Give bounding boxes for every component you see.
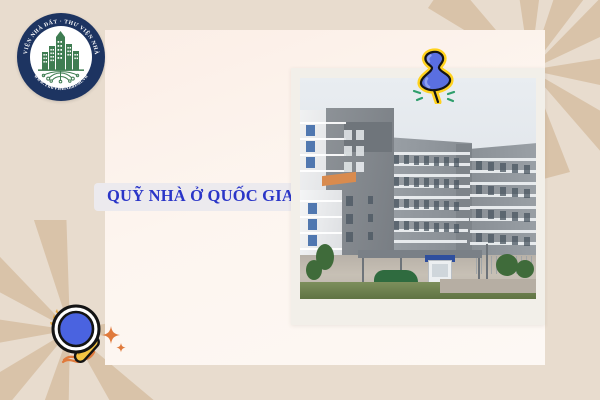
photo-blue-window [308,203,317,214]
photo-window [512,212,518,221]
photo-window [368,214,373,222]
photo-window [404,221,409,230]
photo-window [454,180,459,189]
photo-window [444,223,449,232]
photo-window [488,162,494,171]
photo-balcony-line [300,138,346,140]
photo-pole [486,244,488,284]
photo-window [500,163,506,172]
page-title: QUỸ NHÀ Ở QUỐC GIA [107,188,294,205]
photo-window [476,233,482,242]
photo-window [344,162,352,172]
photo-window [368,196,373,204]
photo-window [454,158,459,167]
photo-window [454,224,459,233]
poster-canvas: THƯ VIỆN NHÀ ĐẤT · THƯ VIỆN NHÀ ĐẤT www.… [0,0,600,400]
photo-blue-window [308,219,317,230]
photo-window [500,235,506,244]
photo-window [488,186,494,195]
photo-tree [516,260,534,278]
photo-window [394,155,399,164]
photo-blue-window [306,157,315,168]
photo-window [454,202,459,211]
photo-balcony-line [300,200,342,202]
photo-tree [496,254,518,276]
photo-window [524,165,530,174]
photo-window [512,188,518,197]
photo-window [444,179,449,188]
photo-window [434,157,439,166]
photo-window [524,213,530,222]
photo-window [394,199,399,208]
photo-window [404,155,409,164]
photo-blue-window [308,235,317,246]
photo-window [424,222,429,231]
photo-balcony-line [300,232,342,234]
photo-window [476,161,482,170]
magnifier-star-icon [102,326,126,352]
photo-blue-window [306,125,315,136]
photo-window [434,223,439,232]
photo-window [476,185,482,194]
photo-balcony-line [300,170,344,172]
photo-window [414,178,419,187]
photo-window [414,200,419,209]
page-title-badge: QUỸ NHÀ Ở QUỐC GIA [94,183,307,211]
photo-window [512,164,518,173]
photo-bare-ground [440,279,536,293]
logo-ring-text-bottom: www.ThuVienNhaDat.vn [32,74,89,92]
photo-window [488,234,494,243]
photo-window [434,179,439,188]
photo-tree [306,260,322,280]
photo-window-band [388,152,470,155]
photo-window [344,146,352,156]
photo-window [394,221,399,230]
pushpin-icon [408,44,464,104]
photo-window [424,178,429,187]
photo-window [346,232,353,242]
photo-window [356,130,364,140]
photo-window [346,214,353,224]
photo-window-band [388,174,470,177]
magnifying-glass-icon [42,296,126,374]
photo-window [404,199,409,208]
photo-window [500,187,506,196]
photo-window-band [391,240,467,243]
logo-ring-text-top: THƯ VIỆN NHÀ ĐẤT · THƯ VIỆN NHÀ ĐẤT [17,13,101,57]
photo-window [524,237,530,246]
photo-window [344,130,352,140]
apartment-complex-photo [300,78,536,299]
photo-window [394,177,399,186]
photo-balcony-line [300,216,342,218]
photo-window [434,201,439,210]
photo-balcony-line [300,154,346,156]
photo-window-band [388,196,470,199]
photo-window [444,157,449,166]
photo-frame [291,68,545,325]
magnifier-lens [59,312,93,346]
photo-window [368,232,373,240]
photo-canopy [358,250,482,258]
photo-blue-window [306,141,315,152]
photo-window [356,162,364,172]
photo-guard-booth-window [432,264,448,277]
photo-window [356,146,364,156]
photo-window [404,177,409,186]
photo-window [424,200,429,209]
photo-window [346,196,353,206]
photo-window [512,236,518,245]
photo-window [414,222,419,231]
photo-window [476,209,482,218]
site-logo[interactable]: THƯ VIỆN NHÀ ĐẤT · THƯ VIỆN NHÀ ĐẤT www.… [17,13,105,101]
logo-ring-text: THƯ VIỆN NHÀ ĐẤT · THƯ VIỆN NHÀ ĐẤT www.… [17,13,105,101]
photo-window [524,189,530,198]
photo-window [488,210,494,219]
photo-canopy-leg [362,258,364,282]
photo-balcony-line [300,122,346,124]
photo-window [444,201,449,210]
photo-window-band [389,218,469,221]
photo-window [424,156,429,165]
photo-window [414,156,419,165]
photo-window [500,211,506,220]
